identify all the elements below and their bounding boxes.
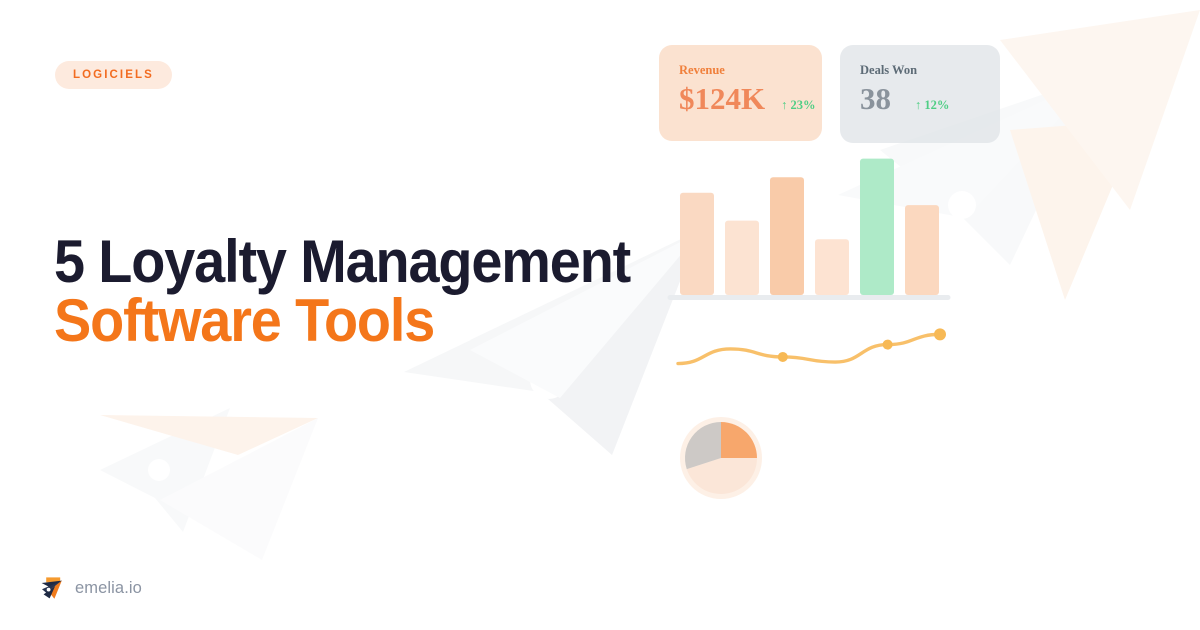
page-title-line-1: 5 Loyalty Management [54, 232, 649, 291]
line-chart-marker [934, 328, 946, 340]
watermark-plane-left [100, 408, 318, 560]
pie-chart [680, 417, 762, 499]
brand-logo: emelia.io [40, 575, 142, 601]
pie-slice [685, 422, 721, 469]
social-share-card: LOGICIELS 5 Loyalty Management Software … [0, 0, 1200, 630]
line-chart-marker [883, 340, 893, 350]
stat-card-deals-won-row: 38 ↑ 12% [860, 82, 980, 116]
page-title-line-2: Software Tools [54, 291, 649, 350]
line-chart-marker [778, 352, 788, 362]
stat-card-deals-won: Deals Won 38 ↑ 12% [840, 45, 1000, 143]
page-title: 5 Loyalty Management Software Tools [54, 232, 694, 350]
line-chart-path [678, 334, 940, 363]
category-badge-label: LOGICIELS [73, 69, 154, 81]
pie-slice [687, 458, 757, 494]
bar [815, 239, 849, 295]
stat-card-deals-won-delta: ↑ 12% [915, 98, 949, 113]
bar-chart [680, 159, 939, 295]
stat-card-revenue-value: $124K [679, 82, 765, 116]
bar [770, 177, 804, 295]
emelia-paper-plane-logo-icon [40, 575, 66, 601]
line-chart [678, 328, 946, 363]
category-badge: LOGICIELS [55, 61, 172, 89]
stat-card-revenue-row: $124K ↑ 23% [679, 82, 802, 116]
pie-chart-halo [680, 417, 762, 499]
bar-highlighted [860, 159, 894, 295]
watermark-plane-topright-tint [1000, 10, 1200, 210]
pie-slice [721, 422, 757, 458]
stat-card-revenue-delta: ↑ 23% [781, 98, 815, 113]
bar [905, 205, 939, 295]
brand-wordmark: emelia.io [75, 579, 142, 598]
stat-card-deals-won-label: Deals Won [860, 63, 980, 78]
stat-card-revenue-label: Revenue [679, 63, 802, 78]
stat-card-revenue: Revenue $124K ↑ 23% [659, 45, 822, 141]
bar [725, 221, 759, 295]
stat-card-deals-won-value: 38 [860, 82, 891, 116]
